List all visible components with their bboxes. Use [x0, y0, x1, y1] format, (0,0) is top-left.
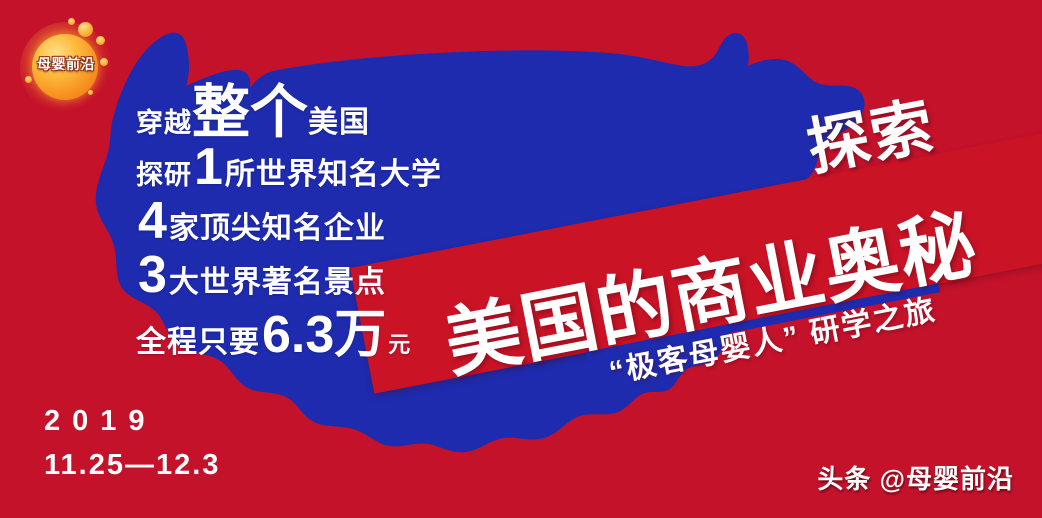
logo-badge[interactable]: 母婴前沿	[18, 14, 114, 114]
logo-bubble-icon	[25, 76, 32, 83]
event-date-range: 11.25—12.3	[44, 449, 220, 482]
logo-bubble-icon	[68, 18, 75, 25]
itinerary-facts: 穿越 整个 美国 探研 1 所世界知名大学 4 家顶尖知名企业 3 大世界著名景…	[136, 86, 442, 365]
event-year: 2019	[44, 405, 220, 438]
fact-line-2: 探研 1 所世界知名大学	[136, 143, 442, 193]
fact-1-emphasis: 整个	[192, 86, 308, 139]
fact-3-number: 4	[136, 197, 169, 246]
fact-4-suffix: 大世界著名景点	[169, 257, 386, 301]
fact-line-4: 3 大世界著名景点	[136, 251, 442, 301]
fact-line-5: 全程只要 6.3万 元	[136, 311, 442, 361]
fact-1-suffix: 美国	[308, 97, 370, 141]
logo-text: 母婴前沿	[18, 54, 114, 74]
promotional-banner: 母婴前沿 穿越 整个 美国 探研 1 所世界知名大学 4 家顶尖知名企业 3 大…	[0, 0, 1042, 518]
logo-bubble-icon	[96, 36, 105, 45]
fact-5-number: 6.3万	[260, 311, 388, 360]
fact-5-prefix: 全程只要	[136, 317, 260, 361]
fact-5-suffix: 元	[388, 327, 410, 359]
fact-1-prefix: 穿越	[136, 101, 192, 140]
source-watermark: 头条 @母婴前沿	[817, 459, 1014, 496]
fact-line-3: 4 家顶尖知名企业	[136, 197, 442, 247]
fact-3-suffix: 家顶尖知名企业	[169, 203, 386, 247]
fact-line-1: 穿越 整个 美国	[136, 86, 442, 141]
event-dates: 2019 11.25—12.3	[44, 405, 220, 482]
fact-2-number: 1	[192, 143, 225, 192]
fact-2-suffix: 所世界知名大学	[225, 149, 442, 193]
logo-bubble-icon	[88, 90, 93, 95]
fact-2-prefix: 探研	[136, 153, 192, 192]
fact-4-number: 3	[136, 251, 169, 300]
logo-bubble-icon	[78, 22, 93, 37]
